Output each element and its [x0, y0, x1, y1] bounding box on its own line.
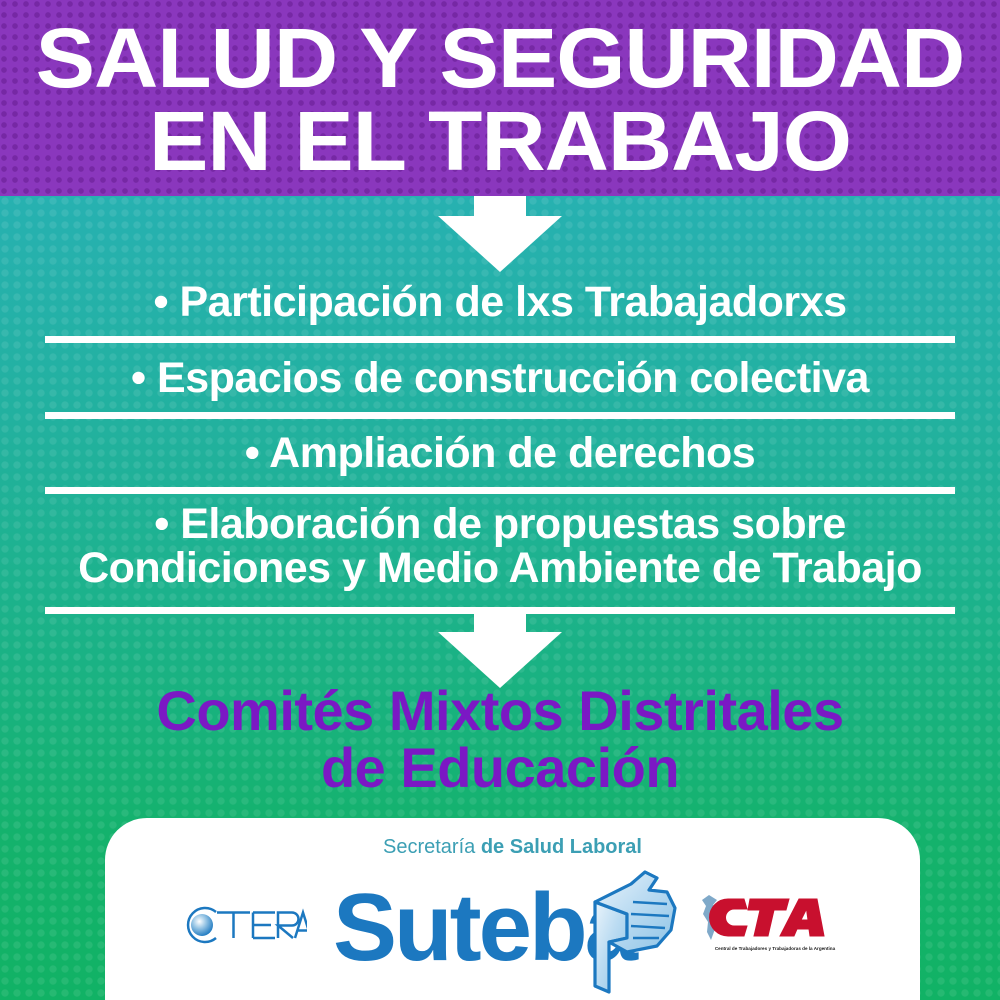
- arrow-down-icon-bottom: [438, 612, 562, 688]
- list-item: • Ampliación de derechos: [0, 432, 1000, 476]
- header-title-line-1: SALUD Y SEGURIDAD: [0, 16, 1000, 100]
- footer-heading: Secretaría de Salud Laboral: [105, 836, 920, 859]
- logo-row: Suteba: [105, 866, 920, 996]
- list-item-line: • Elaboración de propuestas sobre: [0, 503, 1000, 547]
- infographic-poster: SALUD Y SEGURIDAD EN EL TRABAJO • Partic…: [0, 0, 1000, 1000]
- footer-heading-bold: de Salud Laboral: [481, 836, 642, 858]
- suteba-logo: Suteba: [333, 866, 683, 996]
- cta-logo: Central de Trabajadores y Trabajadoras d…: [691, 892, 841, 964]
- footer-card: Secretaría de Salud Laboral: [105, 818, 920, 1000]
- ctera-logo: [177, 902, 307, 948]
- conclusion-line-1: Comités Mixtos Distritales: [0, 682, 1000, 739]
- list-item-line: • Ampliación de derechos: [0, 432, 1000, 476]
- conclusion-heading: Comités Mixtos Distritales de Educación: [0, 682, 1000, 796]
- list-item: • Espacios de construcción colectiva: [0, 357, 1000, 401]
- footer-heading-light: Secretaría: [383, 836, 475, 858]
- list-item-line: Condiciones y Medio Ambiente de Trabajo: [0, 547, 1000, 591]
- header-banner: SALUD Y SEGURIDAD EN EL TRABAJO: [0, 0, 1000, 196]
- conclusion-line-2: de Educación: [0, 739, 1000, 796]
- divider: [45, 336, 955, 343]
- arrow-head: [438, 632, 562, 688]
- list-item: • Elaboración de propuestas sobre Condic…: [0, 503, 1000, 591]
- divider: [45, 412, 955, 419]
- header-title-line-2: EN EL TRABAJO: [0, 99, 1000, 183]
- divider: [45, 487, 955, 494]
- arrow-down-icon-top: [438, 196, 562, 272]
- cta-tagline: Central de Trabajadores y Trabajadoras d…: [709, 946, 841, 951]
- list-item-line: • Espacios de construcción colectiva: [0, 357, 1000, 401]
- arrow-head: [438, 216, 562, 272]
- suteba-hand-flag-icon: [571, 868, 683, 994]
- list-item-line: • Participación de lxs Trabajadorxs: [0, 281, 1000, 325]
- list-item: • Participación de lxs Trabajadorxs: [0, 281, 1000, 325]
